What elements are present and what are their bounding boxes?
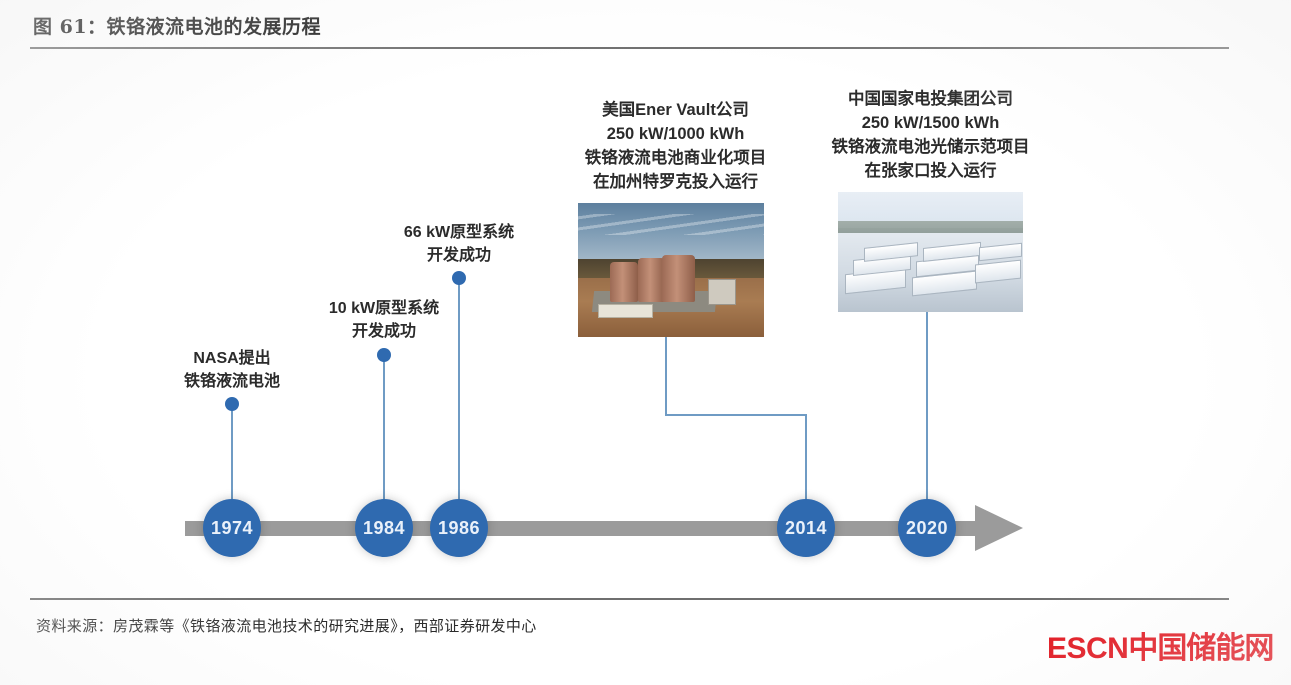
- photo-storage-tank: [662, 255, 695, 302]
- event-label-2020: 中国国家电投集团公司 250 kW/1500 kWh 铁铬液流电池光储示范项目 …: [798, 88, 1063, 184]
- timeline-node-2020-year: 2020: [906, 518, 948, 539]
- timeline-arrow-icon: [975, 505, 1023, 551]
- escn-logo-brand: ESCN: [1047, 632, 1128, 665]
- connector-stem-1986: [458, 278, 460, 499]
- event-photo-2014: [578, 203, 764, 337]
- photo-storage-tank: [610, 262, 638, 302]
- event-label-1974-line-1: NASA提出: [132, 348, 332, 371]
- event-label-2020-line-4: 在张家口投入运行: [798, 160, 1063, 184]
- timeline-node-1974[interactable]: 1974: [203, 499, 261, 557]
- event-label-1986-line-2: 开发成功: [359, 245, 559, 268]
- event-label-2014-line-4: 在加州特罗克投入运行: [543, 171, 808, 195]
- event-label-2014-line-2: 250 kW/1000 kWh: [543, 123, 808, 147]
- source-note: 资料来源：房茂霖等《铁铬液流电池技术的研究进展》，西部证券研发中心: [36, 615, 537, 636]
- connector-2014-segment-down: [665, 337, 667, 415]
- timeline-node-1984-year: 1984: [363, 518, 405, 539]
- photo-equipment-shed: [708, 279, 736, 305]
- timeline-node-1974-year: 1974: [211, 518, 253, 539]
- event-label-2020-line-1: 中国国家电投集团公司: [798, 88, 1063, 112]
- event-label-1986: 66 kW原型系统 开发成功: [359, 222, 559, 267]
- connector-stem-1974: [231, 404, 233, 499]
- connector-stem-1984: [383, 355, 385, 499]
- timeline-node-2020[interactable]: 2020: [898, 499, 956, 557]
- event-label-2014: 美国Ener Vault公司 250 kW/1000 kWh 铁铬液流电池商业化…: [543, 99, 808, 195]
- event-label-2020-line-3: 铁铬液流电池光储示范项目: [798, 136, 1063, 160]
- timeline-axis-bar: [185, 521, 995, 536]
- page-title: 图 61：铁铬液流电池的发展历程: [33, 12, 321, 39]
- event-label-1974: NASA提出 铁铬液流电池: [132, 348, 332, 393]
- connector-2014-segment-across: [665, 414, 806, 416]
- escn-logo: ESCN中国储能网: [1047, 634, 1273, 664]
- source-divider: [30, 598, 1229, 600]
- timeline-node-2014-year: 2014: [785, 518, 827, 539]
- event-label-2014-line-1: 美国Ener Vault公司: [543, 99, 808, 123]
- escn-logo-brand-cn: 中国储能网: [1128, 632, 1273, 665]
- connector-dot-1984: [377, 348, 391, 362]
- event-label-2020-line-2: 250 kW/1500 kWh: [798, 112, 1063, 136]
- connector-dot-1986: [452, 271, 466, 285]
- event-photo-2020: [838, 192, 1023, 312]
- timeline-node-2014[interactable]: 2014: [777, 499, 835, 557]
- event-label-1984: 10 kW原型系统 开发成功: [284, 298, 484, 343]
- title-divider: [30, 47, 1229, 49]
- connector-2014-segment-drop: [805, 414, 807, 500]
- event-label-2014-line-3: 铁铬液流电池商业化项目: [543, 147, 808, 171]
- timeline-node-1984[interactable]: 1984: [355, 499, 413, 557]
- event-label-1984-line-1: 10 kW原型系统: [284, 298, 484, 321]
- timeline-node-1986[interactable]: 1986: [430, 499, 488, 557]
- connector-stem-2020: [926, 312, 928, 500]
- event-label-1974-line-2: 铁铬液流电池: [132, 371, 332, 394]
- connector-dot-1974: [225, 397, 239, 411]
- event-label-1984-line-2: 开发成功: [284, 321, 484, 344]
- timeline-node-1986-year: 1986: [438, 518, 480, 539]
- event-label-1986-line-1: 66 kW原型系统: [359, 222, 559, 245]
- figure-page: 图 61：铁铬液流电池的发展历程 NASA提出 铁铬液流电池 1974 10 k…: [0, 0, 1291, 685]
- photo-site-sign: [598, 304, 652, 318]
